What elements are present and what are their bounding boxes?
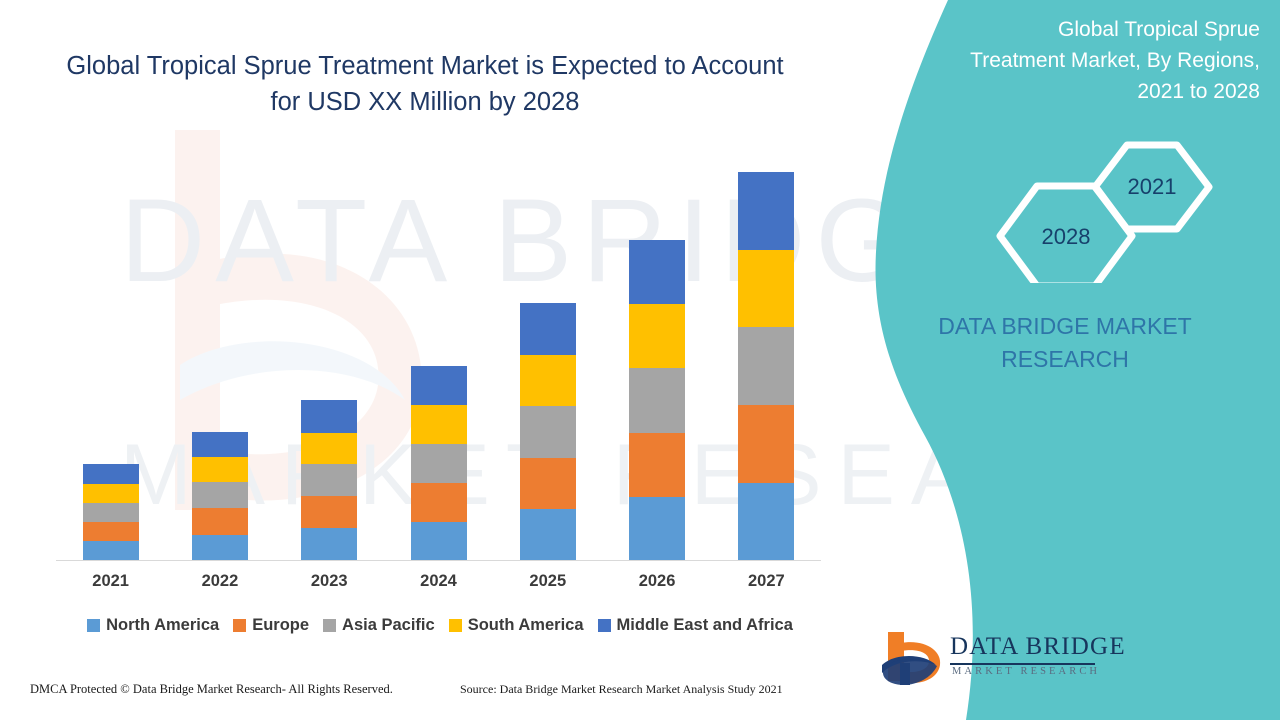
bar-segment[interactable] <box>738 483 794 561</box>
x-axis-label: 2024 <box>394 572 484 591</box>
chart-title-line-1: Global Tropical Sprue Treatment Market i… <box>40 48 810 84</box>
logo-tagline: MARKET RESEARCH <box>952 666 1100 677</box>
bar-segment[interactable] <box>192 508 248 534</box>
hexagon-outlines <box>845 138 1280 283</box>
bar-segment[interactable] <box>83 503 139 522</box>
bar-segment[interactable] <box>629 368 685 432</box>
x-axis-label: 2027 <box>721 572 811 591</box>
panel-brand: DATA BRIDGE MARKET RESEARCH <box>865 310 1265 375</box>
bar-group[interactable] <box>301 400 357 561</box>
x-axis-label: 2023 <box>284 572 374 591</box>
x-axis-label: 2021 <box>66 572 156 591</box>
data-bridge-logo: DATA BRIDGE MARKET RESEARCH <box>880 625 1110 697</box>
bar-group[interactable] <box>411 366 467 561</box>
bar-segment[interactable] <box>738 172 794 250</box>
bar-segment[interactable] <box>411 444 467 483</box>
legend-label: South America <box>468 616 584 635</box>
bar-segment[interactable] <box>301 433 357 465</box>
bar-group[interactable] <box>192 432 248 561</box>
bar-segment[interactable] <box>411 522 467 561</box>
bar-segment[interactable] <box>192 535 248 561</box>
footer-copyright: DMCA Protected © Data Bridge Market Rese… <box>30 682 393 697</box>
legend-label: Europe <box>252 616 309 635</box>
bar-segment[interactable] <box>520 355 576 407</box>
panel-content: Global Tropical Sprue Treatment Market, … <box>845 0 1280 720</box>
bar-segment[interactable] <box>301 464 357 496</box>
chart-title: Global Tropical Sprue Treatment Market i… <box>40 48 810 120</box>
legend-label: North America <box>106 616 219 635</box>
footer-source: Source: Data Bridge Market Research Mark… <box>460 682 783 697</box>
x-axis-labels: 2021202220232024202520262027 <box>56 572 821 600</box>
legend-label: Middle East and Africa <box>617 616 793 635</box>
bar-segment[interactable] <box>520 406 576 458</box>
chart-title-line-2: for USD XX Million by 2028 <box>40 84 810 120</box>
bar-segment[interactable] <box>411 366 467 405</box>
legend-swatch-icon <box>87 619 100 632</box>
slide-root: DATA BRIDGE MARKET RESEARCH Global Tropi… <box>0 0 1280 720</box>
x-axis-label: 2022 <box>175 572 265 591</box>
panel-heading-line-3: 2021 to 2028 <box>865 76 1260 107</box>
hexagon-label-2021: 2021 <box>1102 174 1202 200</box>
bar-segment[interactable] <box>629 240 685 304</box>
bar-segment[interactable] <box>738 327 794 405</box>
legend-swatch-icon <box>323 619 336 632</box>
stacked-bar-chart <box>56 140 821 561</box>
bar-segment[interactable] <box>629 497 685 561</box>
x-axis-line <box>56 560 821 561</box>
bar-segment[interactable] <box>301 528 357 561</box>
logo-mark-icon <box>880 629 946 691</box>
bar-segment[interactable] <box>83 464 139 484</box>
bar-segment[interactable] <box>192 482 248 508</box>
legend-item[interactable]: North America <box>87 616 219 635</box>
bar-segment[interactable] <box>301 400 357 433</box>
bar-segment[interactable] <box>629 304 685 368</box>
legend-item[interactable]: South America <box>449 616 584 635</box>
bar-group[interactable] <box>83 464 139 561</box>
x-axis-label: 2025 <box>503 572 593 591</box>
panel-heading-line-2: Treatment Market, By Regions, <box>865 45 1260 76</box>
legend-item[interactable]: Asia Pacific <box>323 616 435 635</box>
bar-segment[interactable] <box>738 250 794 328</box>
legend-swatch-icon <box>598 619 611 632</box>
bar-segment[interactable] <box>192 432 248 457</box>
legend-swatch-icon <box>449 619 462 632</box>
panel-heading-line-1: Global Tropical Sprue <box>865 14 1260 45</box>
panel-heading: Global Tropical Sprue Treatment Market, … <box>865 14 1260 107</box>
hexagon-label-2028: 2028 <box>1016 224 1116 250</box>
bar-segment[interactable] <box>192 457 248 482</box>
bar-group[interactable] <box>629 240 685 561</box>
bar-segment[interactable] <box>520 458 576 510</box>
panel-brand-line-1: DATA BRIDGE MARKET <box>865 310 1265 343</box>
logo-divider <box>950 663 1095 665</box>
bar-segment[interactable] <box>629 433 685 497</box>
bar-segment[interactable] <box>83 541 139 561</box>
bar-segment[interactable] <box>83 522 139 541</box>
legend-label: Asia Pacific <box>342 616 435 635</box>
bar-segment[interactable] <box>83 484 139 503</box>
legend-item[interactable]: Europe <box>233 616 309 635</box>
bar-segment[interactable] <box>301 496 357 529</box>
bar-group[interactable] <box>520 303 576 561</box>
bar-segment[interactable] <box>738 405 794 483</box>
x-axis-label: 2026 <box>612 572 702 591</box>
bar-segment[interactable] <box>411 405 467 444</box>
footer: DMCA Protected © Data Bridge Market Rese… <box>0 682 845 706</box>
legend-item[interactable]: Middle East and Africa <box>598 616 793 635</box>
bar-segment[interactable] <box>520 303 576 355</box>
panel-brand-line-2: RESEARCH <box>865 343 1265 376</box>
legend-swatch-icon <box>233 619 246 632</box>
bar-segment[interactable] <box>520 509 576 561</box>
bar-group[interactable] <box>738 172 794 561</box>
chart-legend: North AmericaEuropeAsia PacificSouth Ame… <box>56 616 824 635</box>
hexagon-group: 2021 2028 <box>845 138 1280 283</box>
logo-wordmark: DATA BRIDGE <box>950 633 1126 661</box>
bar-segment[interactable] <box>411 483 467 522</box>
